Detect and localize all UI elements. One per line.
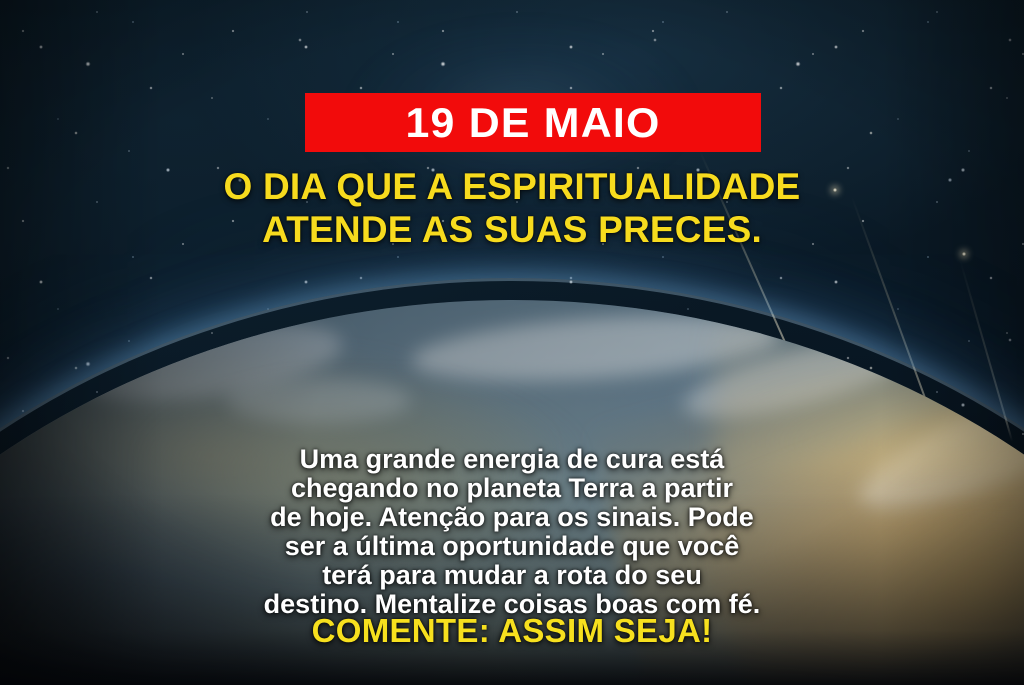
body-copy-line-3: de hoje. Atenção para os sinais. Pode — [58, 503, 966, 532]
headline-line-1: O DIA QUE A ESPIRITUALIDADE — [46, 166, 978, 209]
body-copy: Uma grande energia de cura está chegando… — [0, 445, 1024, 619]
body-copy-line-4: ser a última oportunidade que você — [58, 532, 966, 561]
call-to-action: COMENTE: ASSIM SEJA! — [0, 613, 1024, 649]
headline-line-2: ATENDE AS SUAS PRECES. — [46, 209, 978, 252]
call-to-action-label: COMENTE: ASSIM SEJA! — [312, 612, 713, 649]
poster-canvas: 19 DE MAIO O DIA QUE A ESPIRITUALIDADE A… — [0, 0, 1024, 685]
date-badge: 19 DE MAIO — [305, 93, 761, 152]
body-copy-line-5: terá para mudar a rota do seu — [58, 561, 966, 590]
date-badge-label: 19 DE MAIO — [405, 102, 660, 144]
body-copy-line-2: chegando no planeta Terra a partir — [58, 474, 966, 503]
body-copy-line-1: Uma grande energia de cura está — [58, 445, 966, 474]
headline: O DIA QUE A ESPIRITUALIDADE ATENDE AS SU… — [0, 166, 1024, 252]
poster-content: 19 DE MAIO O DIA QUE A ESPIRITUALIDADE A… — [0, 0, 1024, 685]
